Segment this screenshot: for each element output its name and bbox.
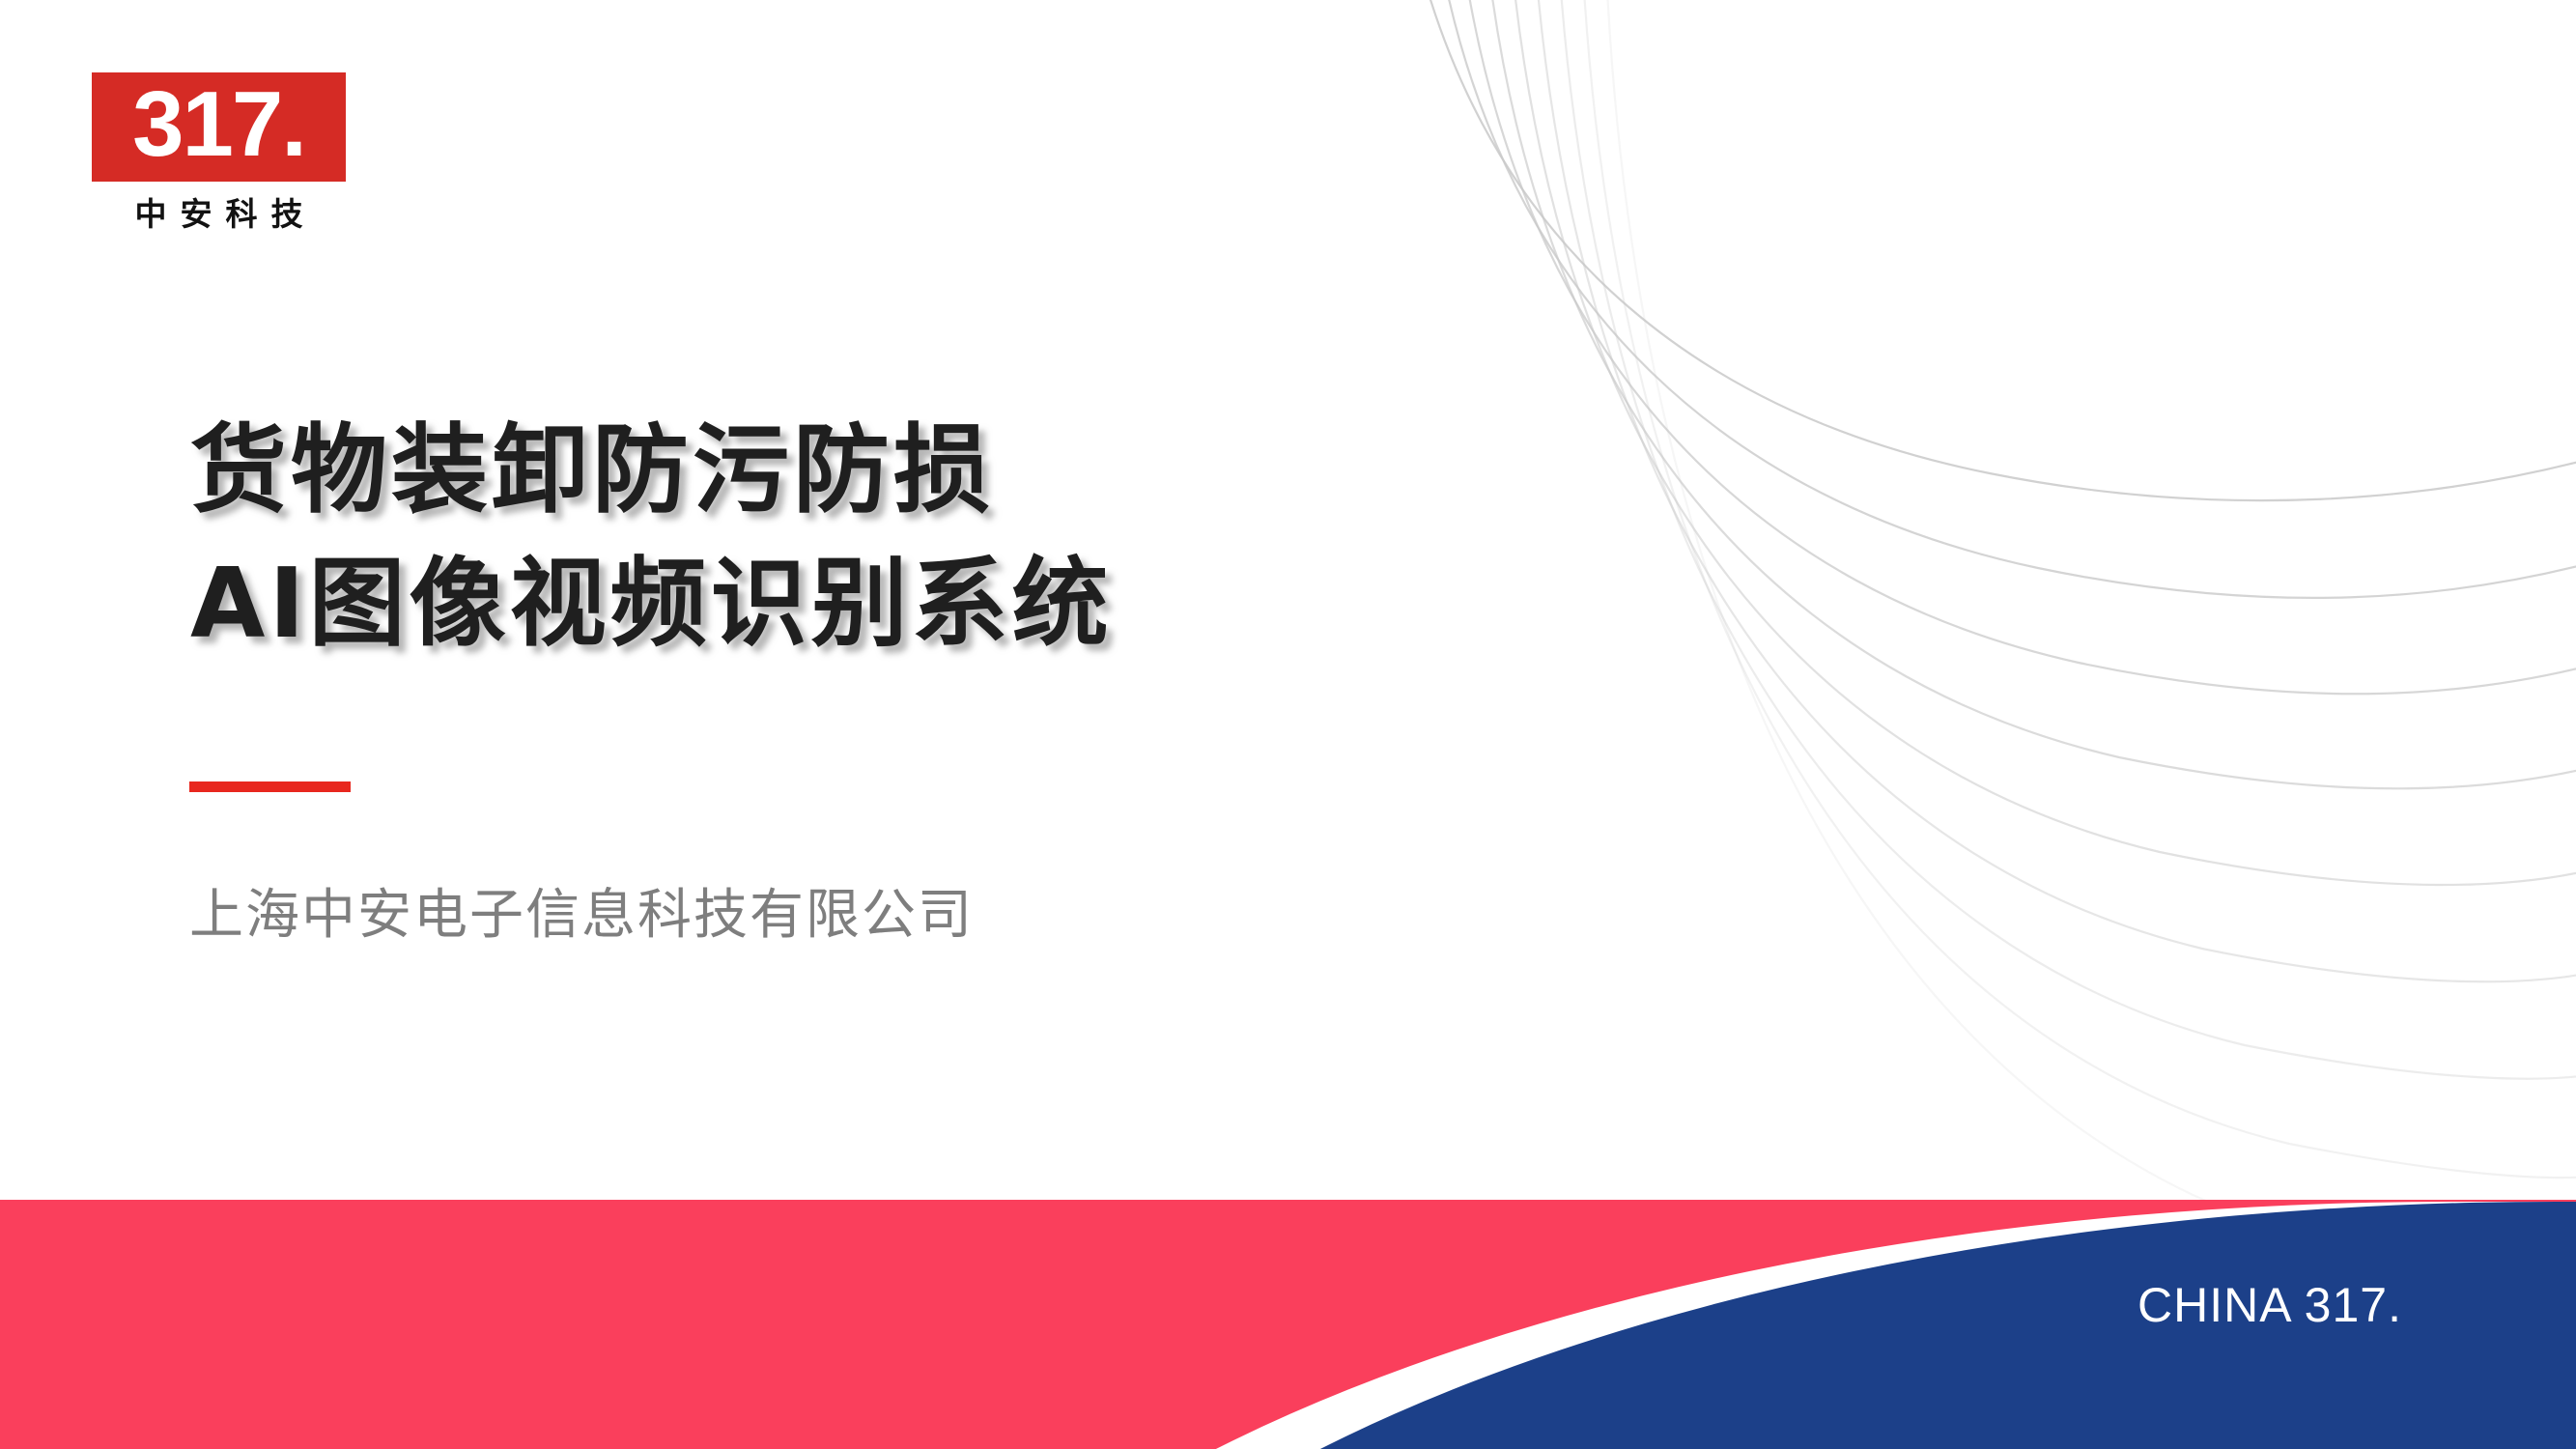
page-title: 货物装卸防污防损 AI图像视频识别系统: [190, 404, 1543, 670]
title-slide: 317. 中安科技 货物装卸防污防损 AI图像视频识别系统 上海中安电子信息科技…: [0, 0, 2576, 1449]
subtitle-company-name: 上海中安电子信息科技有限公司: [189, 871, 974, 950]
title-line-2: AI图像视频识别系统: [190, 537, 1543, 670]
bottom-banner: CHINA 317.: [0, 1200, 2576, 1449]
title-divider-rule: [189, 781, 351, 792]
title-line-1: 货物装卸防污防损: [190, 404, 1543, 537]
logo-mark-text: 317.: [132, 78, 305, 171]
logo-company-short: 中安科技: [92, 197, 346, 232]
banner-brand-label: CHINA 317.: [2137, 1277, 2402, 1333]
company-logo: 317. 中安科技: [92, 72, 351, 232]
logo-mark: 317.: [92, 72, 346, 182]
